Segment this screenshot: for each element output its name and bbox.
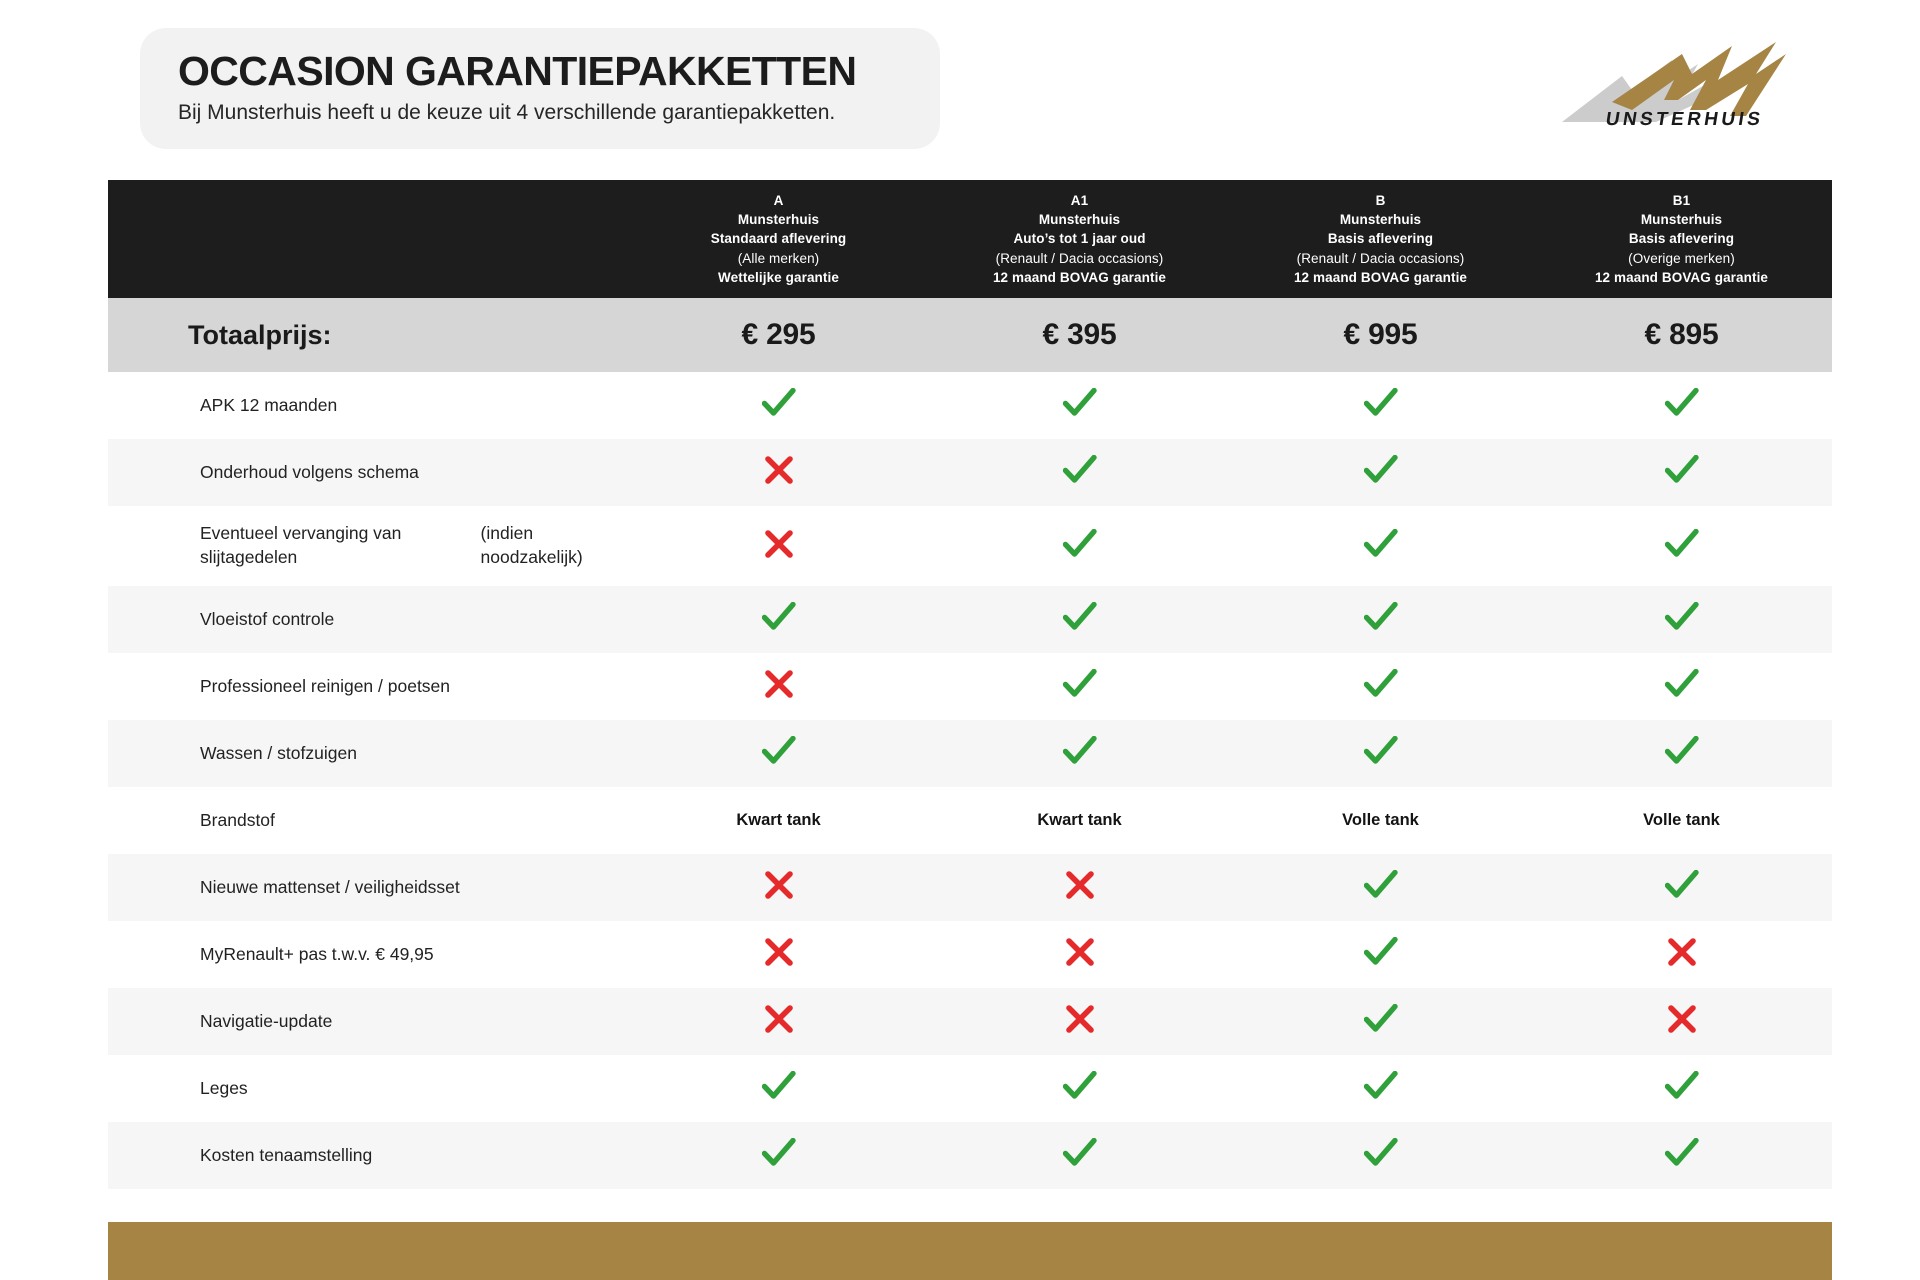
table-row: Onderhoud volgens schema [108, 439, 1832, 506]
check-icon [1364, 602, 1398, 637]
feature-cell-a [628, 720, 929, 787]
column-warranty: 12 maand BOVAG garantie [1294, 268, 1467, 287]
cross-icon [1065, 870, 1095, 905]
check-icon [1665, 602, 1699, 637]
title-card: OCCASION GARANTIEPAKKETTEN Bij Munsterhu… [140, 28, 940, 149]
table-row: Wassen / stofzuigen [108, 720, 1832, 787]
check-icon [1364, 669, 1398, 704]
feature-label: APK 12 maanden [108, 372, 628, 439]
feature-label: Navigatie-update [108, 988, 628, 1055]
check-icon [1665, 669, 1699, 704]
feature-cell-a1: Kwart tank [929, 787, 1230, 854]
bottom-gold-bar [108, 1222, 1832, 1280]
column-code: B1 [1673, 191, 1690, 210]
table-row: Navigatie-update [108, 988, 1832, 1055]
column-scope: (Renault / Dacia occasions) [1297, 249, 1465, 268]
feature-cell-b [1230, 1122, 1531, 1189]
column-brand: Munsterhuis [738, 210, 819, 229]
table-row: Vloeistof controle [108, 586, 1832, 653]
table-row: Eventueel vervanging van slijtagedelen(i… [108, 506, 1832, 586]
feature-cell-b [1230, 586, 1531, 653]
feature-label: Nieuwe mattenset / veiligheidsset [108, 854, 628, 921]
feature-cell-b [1230, 988, 1531, 1055]
column-code: A1 [1071, 191, 1088, 210]
column-warranty: Wettelijke garantie [718, 268, 839, 287]
feature-cell-a: Kwart tank [628, 787, 929, 854]
check-icon [1364, 937, 1398, 972]
feature-label: Professioneel reinigen / poetsen [108, 653, 628, 720]
feature-cell-b: Volle tank [1230, 787, 1531, 854]
check-icon [1364, 1004, 1398, 1039]
feature-cell-a [628, 921, 929, 988]
column-header-b1: B1 Munsterhuis Basis aflevering (Overige… [1531, 180, 1832, 298]
check-icon [1665, 736, 1699, 771]
logo-gold-mark [1612, 42, 1786, 116]
cross-icon [1667, 1004, 1697, 1039]
feature-cell-a1 [929, 921, 1230, 988]
feature-cell-b1 [1531, 439, 1832, 506]
price-cell-b: € 995 [1230, 298, 1531, 372]
feature-cell-a1 [929, 586, 1230, 653]
feature-label: Vloeistof controle [108, 586, 628, 653]
cross-icon [764, 1004, 794, 1039]
check-icon [1063, 529, 1097, 564]
check-icon [1063, 1138, 1097, 1173]
header-label-cell [108, 180, 628, 298]
table-row: BrandstofKwart tankKwart tankVolle tankV… [108, 787, 1832, 854]
feature-label: Kosten tenaamstelling [108, 1122, 628, 1189]
feature-cell-a [628, 1122, 929, 1189]
total-price-label: Totaalprijs: [108, 298, 628, 372]
column-type: Basis aflevering [1629, 229, 1734, 248]
check-icon [762, 602, 796, 637]
column-type: Standaard aflevering [711, 229, 847, 248]
column-scope: (Overige merken) [1628, 249, 1735, 268]
check-icon [762, 1071, 796, 1106]
check-icon [762, 388, 796, 423]
feature-cell-a1 [929, 1122, 1230, 1189]
feature-cell-a [628, 653, 929, 720]
feature-cell-b [1230, 439, 1531, 506]
feature-label: Wassen / stofzuigen [108, 720, 628, 787]
cross-icon [1065, 937, 1095, 972]
feature-text-value: Kwart tank [1037, 811, 1121, 830]
check-icon [1665, 529, 1699, 564]
column-brand: Munsterhuis [1039, 210, 1120, 229]
table-row: Leges [108, 1055, 1832, 1122]
column-header-a1: A1 Munsterhuis Auto’s tot 1 jaar oud (Re… [929, 180, 1230, 298]
feature-cell-b [1230, 1055, 1531, 1122]
cross-icon [1667, 937, 1697, 972]
price-value: € 895 [1644, 318, 1718, 352]
check-icon [1364, 1138, 1398, 1173]
feature-cell-b [1230, 720, 1531, 787]
check-icon [1063, 1071, 1097, 1106]
price-value: € 295 [741, 318, 815, 352]
check-icon [1665, 1071, 1699, 1106]
check-icon [1364, 736, 1398, 771]
check-icon [1364, 529, 1398, 564]
check-icon [1665, 455, 1699, 490]
check-icon [1063, 669, 1097, 704]
feature-cell-b1: Volle tank [1531, 787, 1832, 854]
feature-text-value: Volle tank [1643, 811, 1720, 830]
feature-cell-b1 [1531, 988, 1832, 1055]
check-icon [1063, 736, 1097, 771]
feature-cell-a1 [929, 988, 1230, 1055]
feature-cell-a1 [929, 653, 1230, 720]
column-warranty: 12 maand BOVAG garantie [993, 268, 1166, 287]
feature-label: Leges [108, 1055, 628, 1122]
cross-icon [764, 937, 794, 972]
table-header-row: A Munsterhuis Standaard aflevering (Alle… [108, 180, 1832, 298]
cross-icon [1065, 1004, 1095, 1039]
feature-cell-b1 [1531, 653, 1832, 720]
feature-cell-a [628, 988, 929, 1055]
feature-cell-a [628, 506, 929, 586]
feature-cell-b1 [1531, 586, 1832, 653]
column-code: B [1376, 191, 1386, 210]
feature-cell-b [1230, 653, 1531, 720]
column-scope: (Renault / Dacia occasions) [996, 249, 1164, 268]
check-icon [762, 736, 796, 771]
column-brand: Munsterhuis [1340, 210, 1421, 229]
feature-text-value: Volle tank [1342, 811, 1419, 830]
price-cell-a1: € 395 [929, 298, 1230, 372]
cross-icon [764, 669, 794, 704]
price-cell-a: € 295 [628, 298, 929, 372]
feature-cell-a1 [929, 439, 1230, 506]
page-title: OCCASION GARANTIEPAKKETTEN [178, 50, 910, 93]
check-icon [1063, 455, 1097, 490]
munsterhuis-logo: UNSTERHUIS [1560, 30, 1792, 130]
feature-rows: APK 12 maandenOnderhoud volgens schemaEv… [108, 372, 1832, 1189]
feature-text-value: Kwart tank [736, 811, 820, 830]
column-header-a: A Munsterhuis Standaard aflevering (Alle… [628, 180, 929, 298]
column-header-b: B Munsterhuis Basis aflevering (Renault … [1230, 180, 1531, 298]
cross-icon [764, 870, 794, 905]
table-row: Professioneel reinigen / poetsen [108, 653, 1832, 720]
feature-cell-b1 [1531, 506, 1832, 586]
column-code: A [774, 191, 784, 210]
feature-cell-b [1230, 506, 1531, 586]
column-type: Auto’s tot 1 jaar oud [1013, 229, 1145, 248]
feature-label: MyRenault+ pas t.w.v. € 49,95 [108, 921, 628, 988]
feature-cell-b [1230, 372, 1531, 439]
page-header: OCCASION GARANTIEPAKKETTEN Bij Munsterhu… [0, 0, 1920, 160]
column-brand: Munsterhuis [1641, 210, 1722, 229]
check-icon [1063, 602, 1097, 637]
feature-cell-a [628, 854, 929, 921]
feature-cell-a [628, 1055, 929, 1122]
feature-cell-b [1230, 921, 1531, 988]
garantiepakketten-table: A Munsterhuis Standaard aflevering (Alle… [108, 180, 1832, 1189]
feature-cell-b1 [1531, 1055, 1832, 1122]
feature-cell-b [1230, 854, 1531, 921]
page-subtitle: Bij Munsterhuis heeft u de keuze uit 4 v… [178, 100, 910, 125]
logo-wordmark: UNSTERHUIS [1604, 109, 1765, 130]
check-icon [1364, 1071, 1398, 1106]
feature-cell-a1 [929, 506, 1230, 586]
feature-cell-b1 [1531, 720, 1832, 787]
table-row: APK 12 maanden [108, 372, 1832, 439]
feature-cell-b1 [1531, 854, 1832, 921]
table-row: Nieuwe mattenset / veiligheidsset [108, 854, 1832, 921]
table-row: Kosten tenaamstelling [108, 1122, 1832, 1189]
feature-cell-a [628, 372, 929, 439]
column-type: Basis aflevering [1328, 229, 1433, 248]
feature-cell-a [628, 586, 929, 653]
column-scope: (Alle merken) [738, 249, 820, 268]
feature-label: Eventueel vervanging van slijtagedelen(i… [108, 506, 628, 586]
feature-cell-a1 [929, 854, 1230, 921]
cross-icon [764, 455, 794, 490]
table-row: MyRenault+ pas t.w.v. € 49,95 [108, 921, 1832, 988]
price-value: € 395 [1042, 318, 1116, 352]
feature-cell-a [628, 439, 929, 506]
check-icon [1364, 870, 1398, 905]
price-cell-b1: € 895 [1531, 298, 1832, 372]
feature-label: Onderhoud volgens schema [108, 439, 628, 506]
total-price-row: Totaalprijs: € 295 € 395 € 995 € 895 [108, 298, 1832, 372]
cross-icon [764, 529, 794, 564]
price-value: € 995 [1343, 318, 1417, 352]
check-icon [1364, 388, 1398, 423]
feature-cell-a1 [929, 372, 1230, 439]
check-icon [1364, 455, 1398, 490]
check-icon [1665, 388, 1699, 423]
feature-cell-b1 [1531, 921, 1832, 988]
feature-cell-b1 [1531, 1122, 1832, 1189]
feature-label: Brandstof [108, 787, 628, 854]
check-icon [1665, 870, 1699, 905]
feature-cell-b1 [1531, 372, 1832, 439]
feature-cell-a1 [929, 720, 1230, 787]
column-warranty: 12 maand BOVAG garantie [1595, 268, 1768, 287]
check-icon [1063, 388, 1097, 423]
check-icon [1665, 1138, 1699, 1173]
feature-cell-a1 [929, 1055, 1230, 1122]
check-icon [762, 1138, 796, 1173]
